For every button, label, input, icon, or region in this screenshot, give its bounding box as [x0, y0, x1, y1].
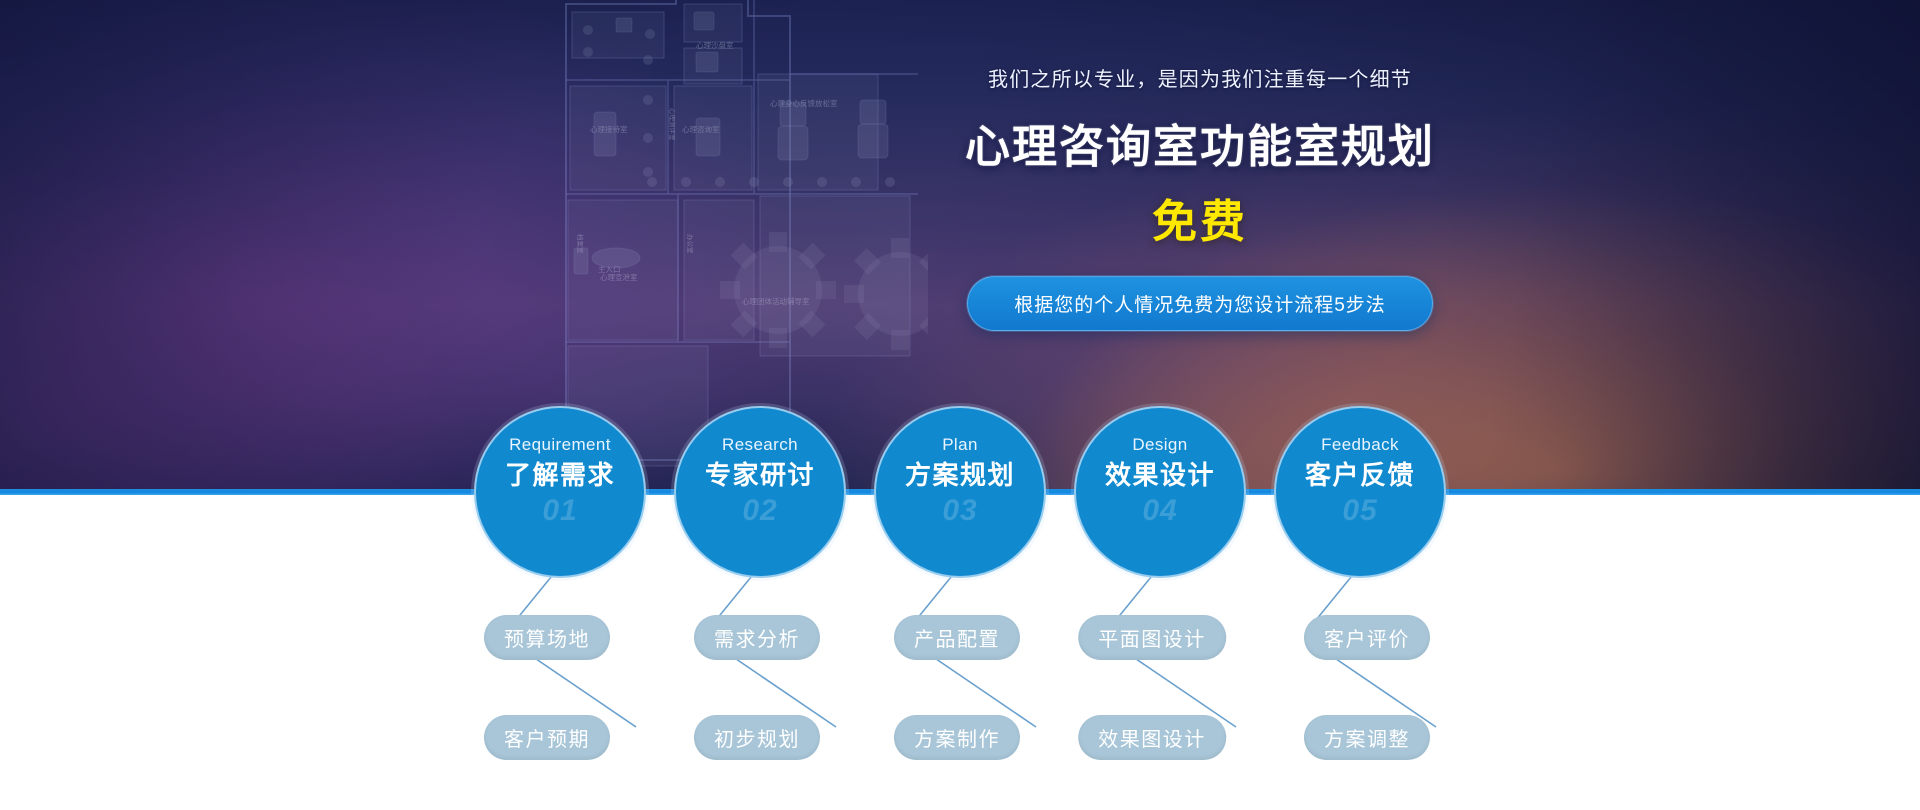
process-tag[interactable]: 方案制作: [894, 715, 1020, 760]
process-tag[interactable]: 方案调整: [1304, 715, 1430, 760]
process-tag[interactable]: 需求分析: [694, 615, 820, 660]
process-tag[interactable]: 效果图设计: [1078, 715, 1226, 760]
process-circle-number: 01: [542, 496, 577, 526]
process-circle-cn-label: 了解需求: [505, 462, 615, 488]
process-circle-2[interactable]: Research 专家研讨 02: [674, 406, 846, 578]
process-tag[interactable]: 初步规划: [694, 715, 820, 760]
process-circle-cn-label: 客户反馈: [1305, 462, 1415, 488]
process-tag[interactable]: 客户评价: [1304, 615, 1430, 660]
process-circle-number: 03: [942, 496, 977, 526]
process-tag[interactable]: 平面图设计: [1078, 615, 1226, 660]
process-circle-en-label: Research: [722, 436, 798, 453]
process-circle-number: 02: [742, 496, 777, 526]
process-circle-en-label: Plan: [942, 436, 978, 453]
process-circle-5[interactable]: Feedback 客户反馈 05: [1274, 406, 1446, 578]
process-circle-en-label: Feedback: [1321, 436, 1399, 453]
process-circle-number: 05: [1342, 496, 1377, 526]
process-circle-cn-label: 方案规划: [905, 462, 1015, 488]
process-circle-en-label: Design: [1132, 436, 1187, 453]
process-circle-cn-label: 效果设计: [1105, 462, 1215, 488]
process-circle-1[interactable]: Requirement 了解需求 01: [474, 406, 646, 578]
process-circle-4[interactable]: Design 效果设计 04: [1074, 406, 1246, 578]
process-circle-number: 04: [1142, 496, 1177, 526]
step-connector-lines: [0, 0, 1920, 810]
process-tag[interactable]: 客户预期: [484, 715, 610, 760]
process-circle-en-label: Requirement: [509, 436, 611, 453]
process-circle-3[interactable]: Plan 方案规划 03: [874, 406, 1046, 578]
process-tag[interactable]: 预算场地: [484, 615, 610, 660]
process-circle-cn-label: 专家研讨: [705, 462, 815, 488]
process-section: Requirement 了解需求 01 Research 专家研讨 02 Pla…: [0, 0, 1920, 810]
process-tag[interactable]: 产品配置: [894, 615, 1020, 660]
page-root: 心理接待室 心理咨询室 心理沙盘室 心理身心反馈放松室 心理宣泄室 心理团体活动…: [0, 0, 1920, 810]
